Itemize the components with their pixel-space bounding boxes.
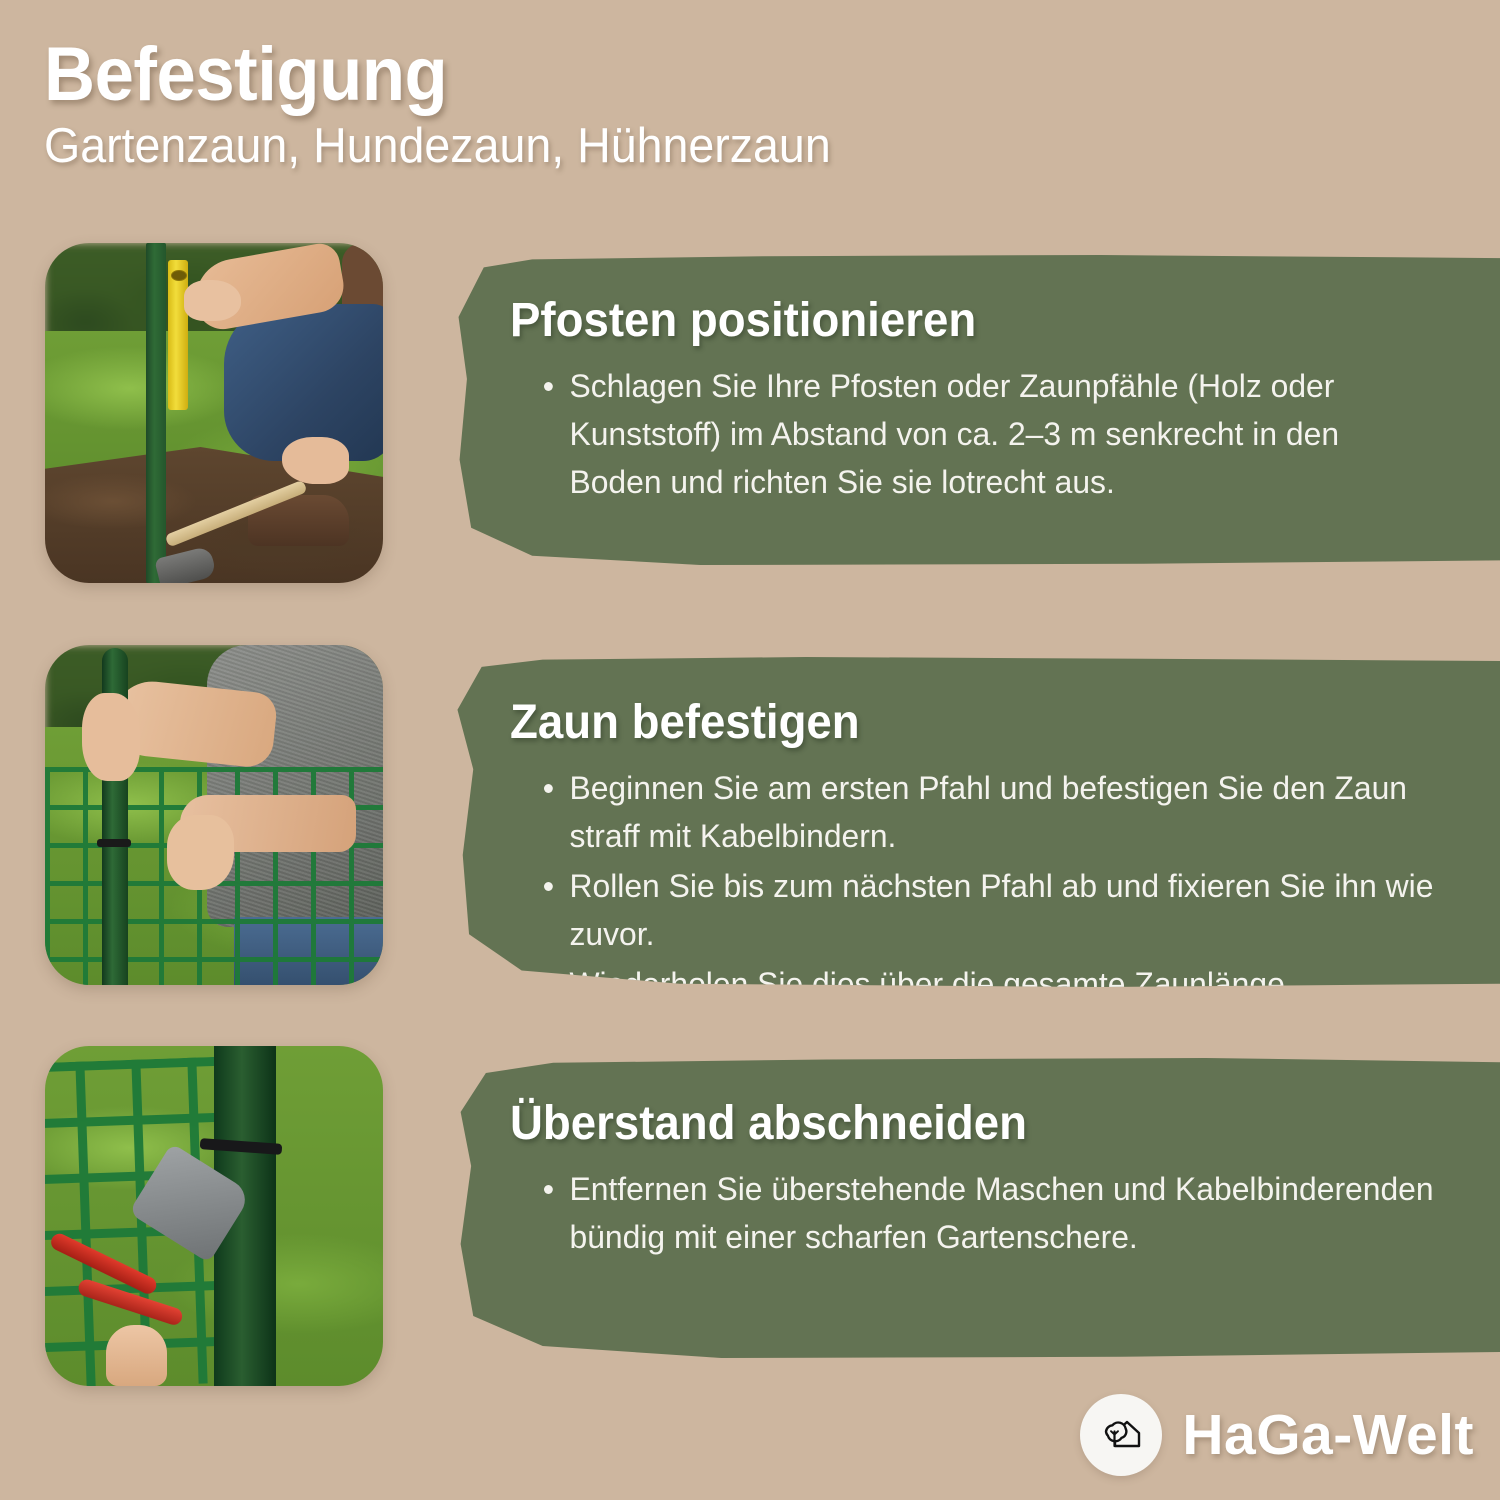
- brand-name: HaGa-Welt: [1182, 1402, 1474, 1468]
- step-panel-2: Zaun befestigen Beginnen Sie am ersten P…: [448, 657, 1500, 987]
- photo-hand-lower: [167, 815, 235, 890]
- step-photo-2: [45, 645, 383, 985]
- step-photo-3: [45, 1046, 383, 1386]
- photo-hand-upper: [82, 693, 139, 781]
- step-photo-1: [45, 243, 383, 583]
- photo-spirit-level: [168, 260, 188, 410]
- step-panel-1: Pfosten positionieren Schlagen Sie Ihre …: [448, 255, 1500, 565]
- page-header: Befestigung Gartenzaun, Hundezaun, Hühne…: [44, 36, 1144, 175]
- step-heading-1: Pfosten positionieren: [510, 295, 1409, 348]
- step-heading-2: Zaun befestigen: [510, 697, 1409, 750]
- page-title: Befestigung: [44, 36, 1067, 114]
- step-bullet-list-2: Beginnen Sie am ersten Pfahl und befesti…: [510, 764, 1456, 1008]
- step-section-1: Pfosten positionieren Schlagen Sie Ihre …: [0, 243, 1500, 588]
- page-subtitle: Gartenzaun, Hundezaun, Hühnerzaun: [44, 118, 1089, 176]
- brand-logo[interactable]: HaGa-Welt: [1080, 1394, 1474, 1476]
- step-panel-3: Überstand abschneiden Entfernen Sie über…: [448, 1058, 1500, 1358]
- photo-thumb: [106, 1325, 167, 1386]
- list-item: Wiederholen Sie dies über die gesamte Za…: [544, 960, 1438, 1008]
- photo-hand-lower: [282, 437, 350, 485]
- step-bullet-list-3: Entfernen Sie überstehende Maschen und K…: [510, 1165, 1456, 1261]
- step-bullet-list-1: Schlagen Sie Ihre Pfosten oder Zaunpfähl…: [510, 362, 1456, 506]
- photo-fence-post: [146, 243, 166, 583]
- list-item: Schlagen Sie Ihre Pfosten oder Zaunpfähl…: [544, 362, 1438, 506]
- step-heading-3: Überstand abschneiden: [510, 1098, 1409, 1151]
- list-item: Beginnen Sie am ersten Pfahl und befesti…: [544, 764, 1438, 860]
- photo-hand-upper: [184, 280, 241, 321]
- photo-cable-tie: [97, 839, 131, 847]
- step-section-3: Überstand abschneiden Entfernen Sie über…: [0, 1046, 1500, 1391]
- house-with-tree-icon: [1080, 1394, 1162, 1476]
- list-item: Entfernen Sie überstehende Maschen und K…: [544, 1165, 1438, 1261]
- list-item: Rollen Sie bis zum nächsten Pfahl ab und…: [544, 862, 1438, 958]
- step-section-2: Zaun befestigen Beginnen Sie am ersten P…: [0, 645, 1500, 990]
